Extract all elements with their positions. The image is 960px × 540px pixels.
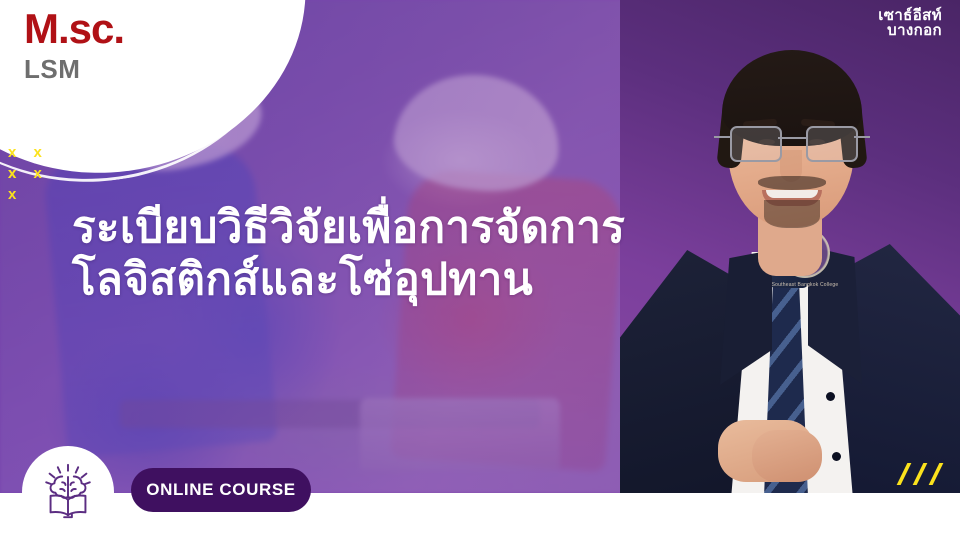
x-row-top: x x x [8, 142, 70, 163]
hand-right [752, 430, 822, 482]
x-icon: x [33, 142, 54, 163]
logo-line-2: บางกอก [878, 23, 942, 38]
slash-icon [913, 463, 928, 485]
jacket-button-lower [832, 452, 841, 461]
course-title-line-2: โลจิสติกส์และโซ่อุปทาน [72, 254, 712, 306]
jacket-button-upper [826, 392, 835, 401]
lens-right [806, 126, 858, 162]
x-row-bottom: x [8, 184, 70, 205]
x-row-middle: x x [8, 163, 70, 184]
x-icon: x [8, 163, 29, 184]
slash-icon [897, 463, 912, 485]
lens-left [730, 126, 782, 162]
online-course-badge[interactable]: ONLINE COURSE [131, 468, 311, 512]
institution-logo: เซาธ์อีสท์ บางกอก [878, 8, 942, 39]
goatee [764, 200, 820, 228]
brain-book-icon [37, 461, 99, 523]
teeth [766, 190, 818, 198]
glasses-temple-right [854, 136, 870, 138]
x-icon: x [33, 163, 54, 184]
eyeglasses-icon [730, 126, 854, 160]
glasses-bridge [778, 137, 806, 139]
degree-badge-text: M.sc. LSM [24, 8, 264, 82]
mustache [758, 176, 826, 190]
banner-artwork-area: Southeast Bangkok College [0, 0, 960, 493]
online-course-label: ONLINE COURSE [146, 480, 295, 500]
logo-line-1: เซาธ์อีสท์ [878, 8, 942, 23]
slash-decoration [888, 459, 944, 485]
brain-book-icon-circle [22, 446, 114, 538]
x-icon: x [8, 184, 29, 205]
course-title: ระเบียบวิธีวิจัยเพื่อการจัดการ โลจิสติกส… [72, 202, 712, 306]
program-label: LSM [24, 56, 264, 82]
course-title-line-1: ระเบียบวิธีวิจัยเพื่อการจัดการ [72, 202, 712, 254]
slash-icon [929, 463, 944, 485]
x-marks-decoration: x x x x x x [8, 142, 70, 205]
degree-label: M.sc. [24, 8, 264, 50]
x-icon: x [8, 142, 29, 163]
glasses-temple-left [714, 136, 730, 138]
college-crest-label: Southeast Bangkok College [762, 282, 848, 288]
course-banner: Southeast Bangkok College [0, 0, 960, 540]
